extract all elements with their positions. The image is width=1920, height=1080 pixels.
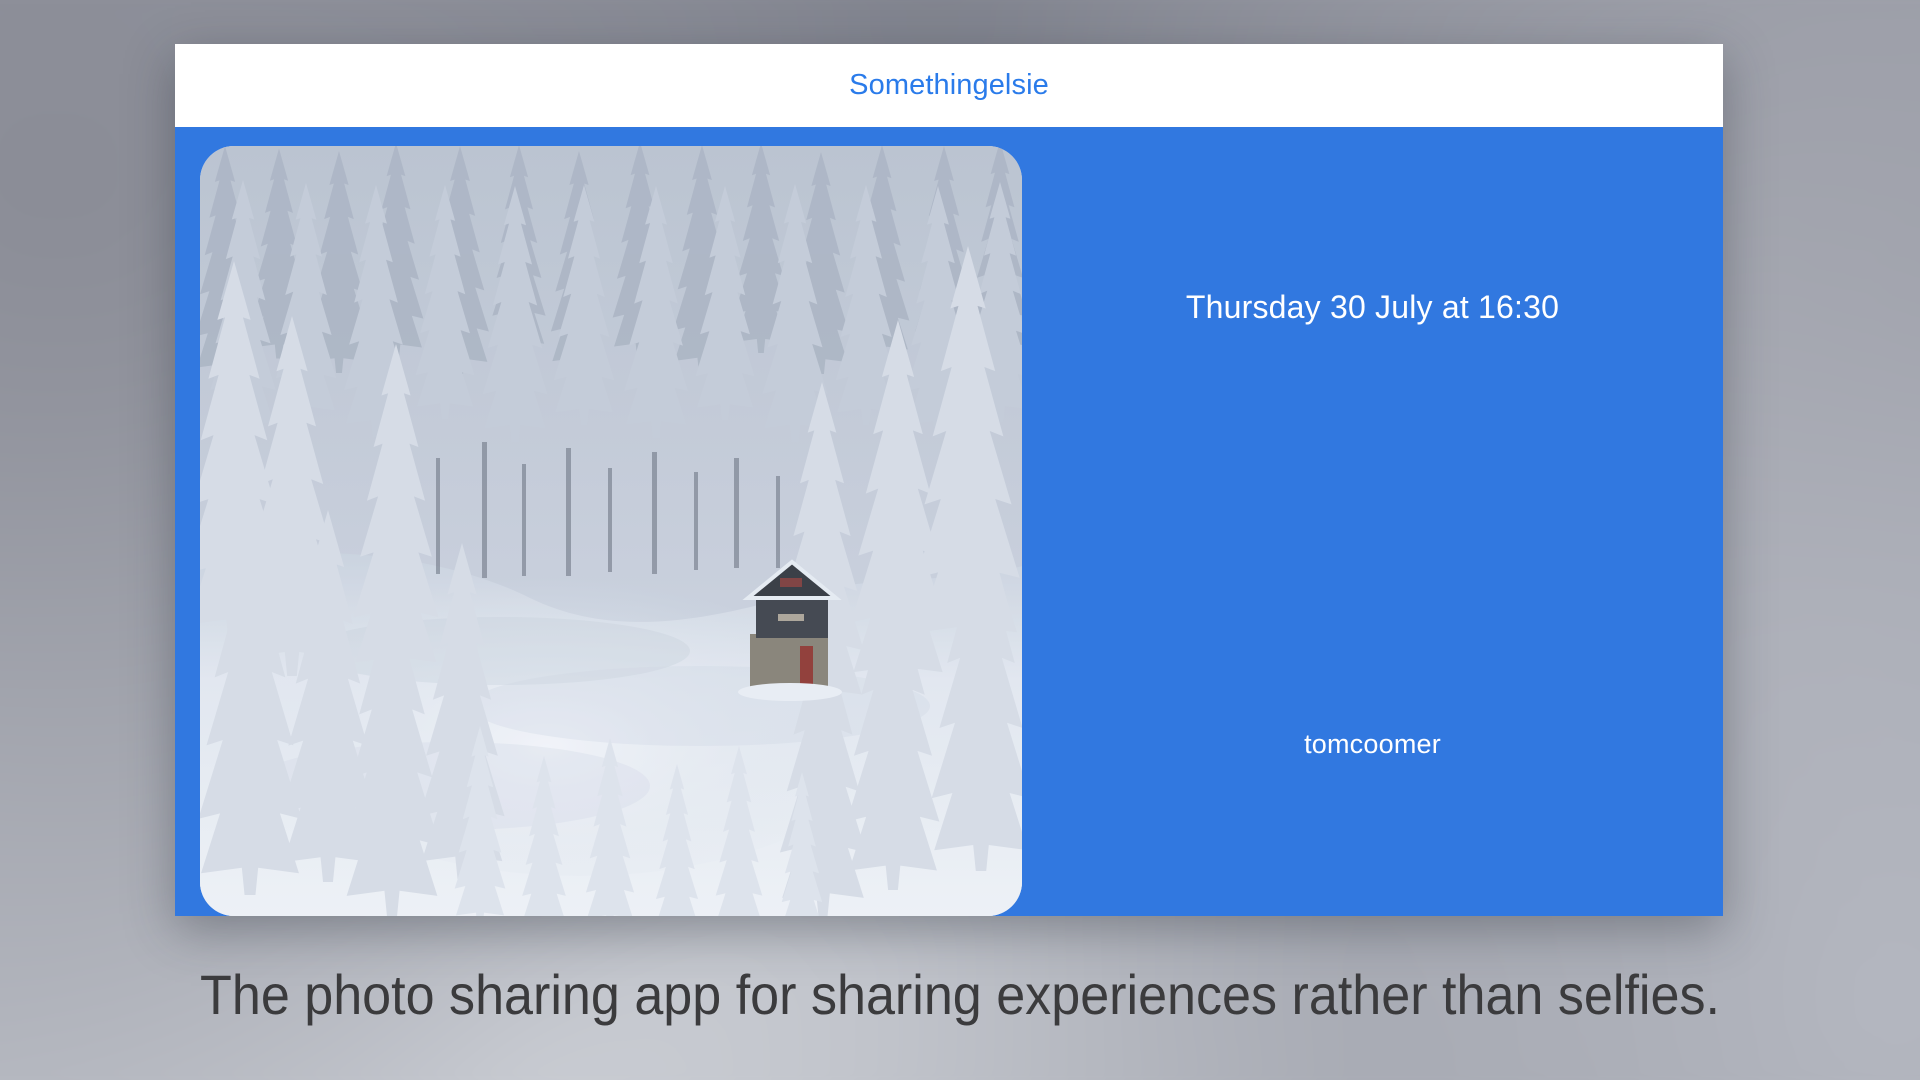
post-timestamp: Thursday 30 July at 16:30 (1022, 288, 1723, 326)
post-card: Somethingelsie (175, 44, 1723, 916)
app-title[interactable]: Somethingelsie (849, 71, 1049, 100)
post-details: Thursday 30 July at 16:30 tomcoomer (1022, 127, 1723, 916)
card-header: Somethingelsie (175, 44, 1723, 127)
card-body: Thursday 30 July at 16:30 tomcoomer (175, 127, 1723, 916)
post-username[interactable]: tomcoomer (1022, 728, 1723, 760)
snowy-forest-photo (200, 146, 1022, 916)
post-photo[interactable] (200, 146, 1022, 916)
screen: Somethingelsie (0, 0, 1920, 1080)
tagline: The photo sharing app for sharing experi… (67, 963, 1853, 1027)
